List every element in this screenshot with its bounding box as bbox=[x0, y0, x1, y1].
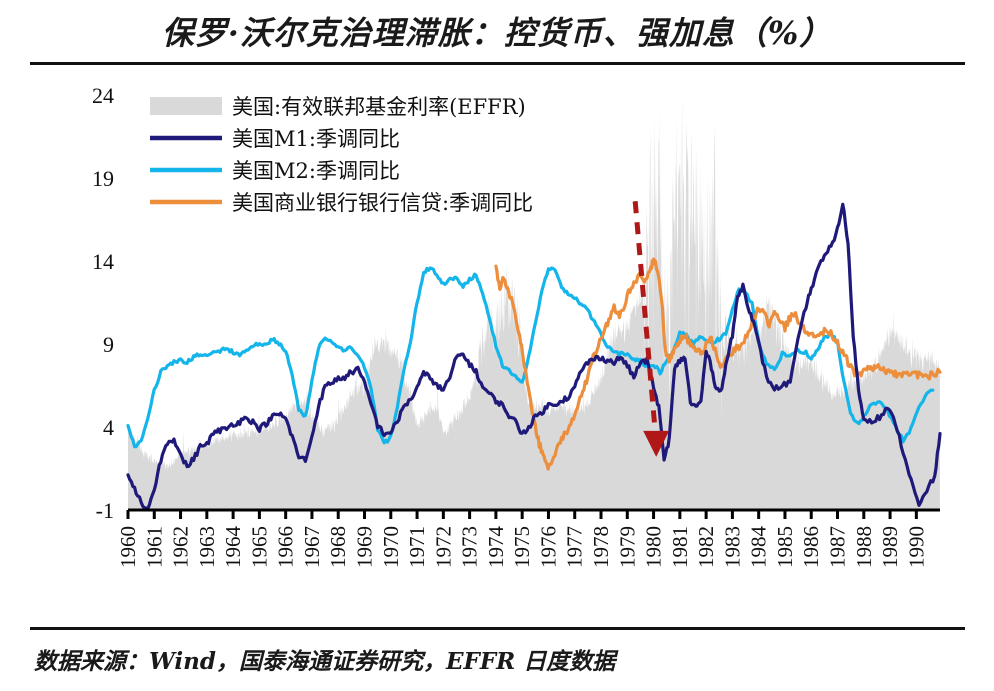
x-axis-labels: 1960196119621963196419651966196719681969… bbox=[116, 526, 928, 569]
chart-title-container: 保罗·沃尔克治理滞胀：控货币、强加息（%） bbox=[0, 8, 994, 54]
page-title: 保罗·沃尔克治理滞胀：控货币、强加息（%） bbox=[162, 14, 833, 52]
chart-canvas: -149141924196019611962196319641965196619… bbox=[0, 70, 994, 625]
x-tick-label: 1968 bbox=[326, 526, 350, 568]
chart-page: 保罗·沃尔克治理滞胀：控货币、强加息（%） -14914192419601961… bbox=[0, 0, 994, 691]
x-tick-label: 1976 bbox=[537, 526, 561, 568]
x-tick-label: 1965 bbox=[247, 526, 271, 568]
x-tick-label: 1970 bbox=[379, 526, 403, 568]
x-tick-label: 1977 bbox=[563, 526, 587, 568]
y-tick-label: -1 bbox=[96, 498, 114, 523]
x-tick-label: 1986 bbox=[799, 526, 823, 568]
x-tick-label: 1961 bbox=[142, 526, 166, 568]
x-tick-label: 1980 bbox=[642, 526, 666, 568]
footer-divider bbox=[30, 627, 965, 630]
x-tick-label: 1975 bbox=[510, 526, 534, 568]
x-tick-label: 1969 bbox=[353, 526, 377, 568]
x-tick-label: 1963 bbox=[195, 526, 219, 568]
legend-label: 美国M1:季调同比 bbox=[232, 127, 400, 151]
y-axis-labels: -149141924 bbox=[92, 83, 114, 523]
legend-label: 美国商业银行银行信贷:季调同比 bbox=[232, 191, 533, 215]
x-tick-label: 1973 bbox=[458, 526, 482, 568]
x-tick-label: 1974 bbox=[484, 526, 508, 569]
legend-swatch-effr bbox=[150, 97, 222, 115]
title-divider bbox=[30, 62, 965, 65]
x-tick-label: 1985 bbox=[773, 526, 797, 568]
x-tick-label: 1989 bbox=[878, 526, 902, 568]
x-tick-label: 1982 bbox=[694, 526, 718, 568]
x-tick-label: 1962 bbox=[169, 526, 193, 568]
x-tick-label: 1964 bbox=[221, 526, 245, 569]
x-tick-label: 1971 bbox=[405, 526, 429, 568]
source-note: 数据来源：Wind，国泰海通证券研究，EFFR 日度数据 bbox=[34, 642, 615, 676]
y-tick-label: 24 bbox=[92, 83, 114, 108]
axis-group bbox=[128, 510, 940, 519]
x-tick-label: 1972 bbox=[431, 526, 455, 568]
legend-label: 美国M2:季调同比 bbox=[232, 159, 400, 183]
x-tick-label: 1978 bbox=[589, 526, 613, 568]
x-tick-label: 1983 bbox=[720, 526, 744, 568]
x-tick-label: 1981 bbox=[668, 526, 692, 568]
x-tick-label: 1960 bbox=[116, 526, 140, 568]
y-tick-label: 19 bbox=[92, 166, 114, 191]
x-tick-label: 1966 bbox=[274, 526, 298, 568]
chart-legend: 美国:有效联邦基金利率(EFFR)美国M1:季调同比美国M2:季调同比美国商业银… bbox=[150, 95, 533, 215]
x-tick-label: 1987 bbox=[826, 526, 850, 568]
x-tick-label: 1988 bbox=[852, 526, 876, 568]
x-tick-label: 1967 bbox=[300, 526, 324, 568]
y-tick-label: 9 bbox=[103, 332, 114, 357]
legend-label: 美国:有效联邦基金利率(EFFR) bbox=[232, 95, 526, 119]
x-tick-label: 1990 bbox=[904, 526, 928, 568]
x-tick-label: 1984 bbox=[747, 526, 771, 569]
chart-svg: -149141924196019611962196319641965196619… bbox=[0, 70, 994, 625]
x-tick-label: 1979 bbox=[615, 526, 639, 568]
y-tick-label: 4 bbox=[103, 415, 114, 440]
y-tick-label: 14 bbox=[92, 249, 114, 274]
